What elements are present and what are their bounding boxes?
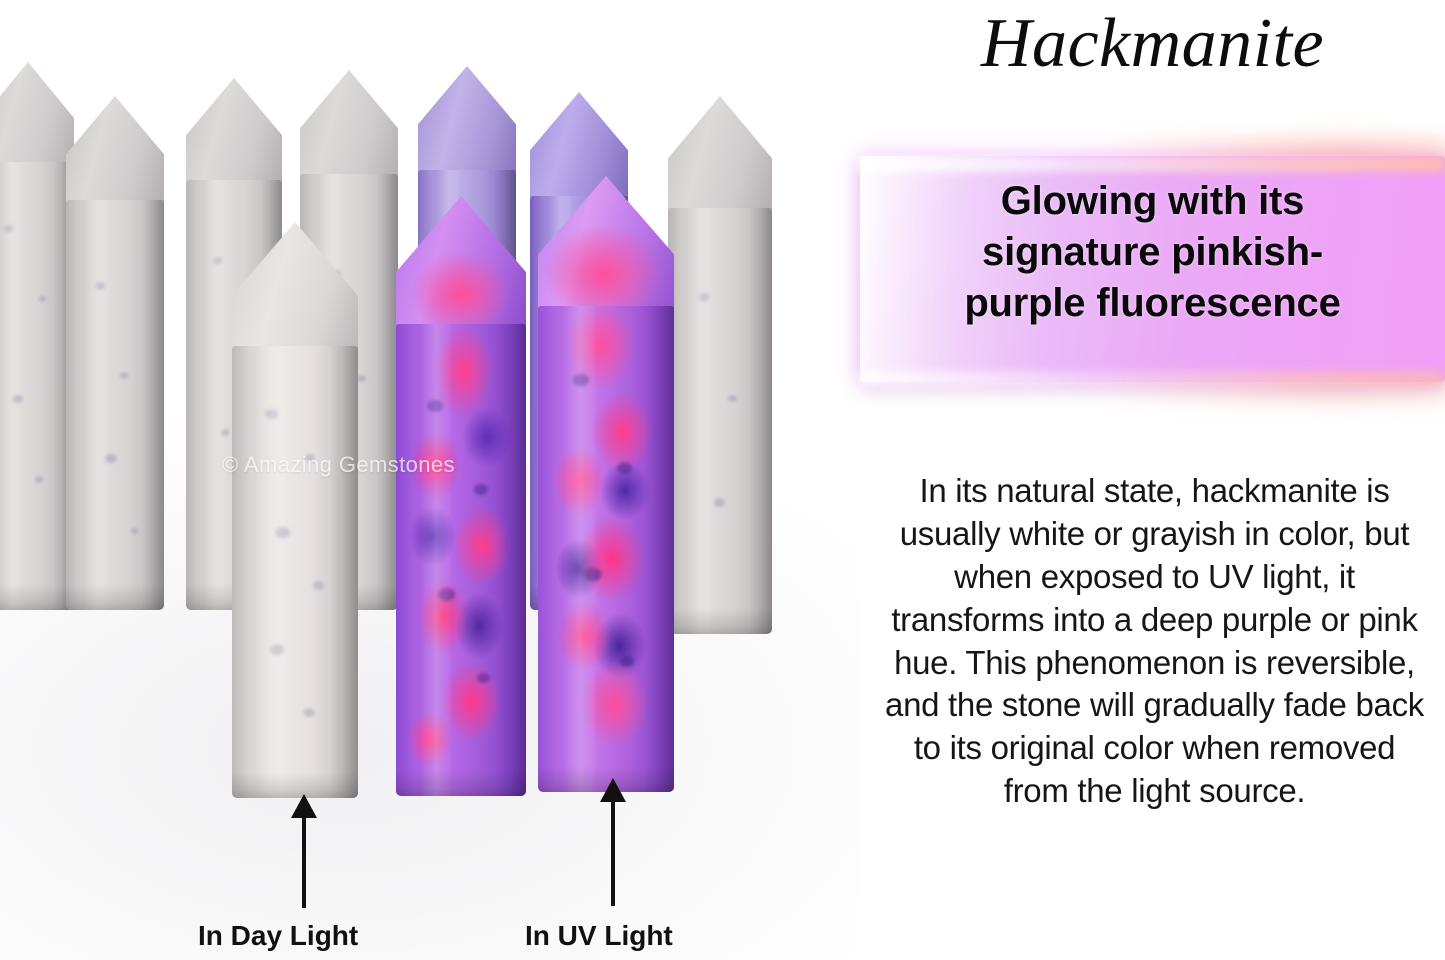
watermark: © Amazing Gemstones [222,452,455,478]
crystal-tip [668,96,772,216]
crystal-body [668,208,772,634]
crystal-tower-front-uv-2 [538,176,674,792]
highlight-banner: Glowing with its signature pinkish- purp… [860,150,1445,390]
description-paragraph: In its natural state, hackmanite is usua… [882,470,1427,813]
crystal-tip [66,96,164,208]
crystal-tower-front-uv-1 [396,196,526,796]
crystal-tip [418,66,516,178]
info-panel: Hackmanite Glowing with its signature pi… [860,0,1445,960]
crystal-body [538,306,674,792]
crystal-body [66,200,164,610]
screenshot-stage: © Amazing Gemstones In Day Light In UV L… [0,0,1445,960]
arrow-head-icon [291,794,317,818]
page-title: Hackmanite [860,4,1445,84]
crystal-tip [396,196,526,332]
product-photo: © Amazing Gemstones In Day Light In UV L… [0,0,860,960]
crystal-tip [538,176,674,316]
banner-heading-line-3: purple fluorescence [860,278,1445,329]
crystal-body [396,324,526,796]
crystal-tip [232,222,358,354]
banner-heading: Glowing with its signature pinkish- purp… [860,176,1445,330]
crystal-tip [300,70,398,182]
banner-bottom-sheen [860,372,1445,386]
arrow-shaft [611,800,615,906]
arrow-day-light [277,794,331,906]
crystal-tower-back-1 [0,62,74,610]
crystal-body [0,162,74,610]
arrow-head-icon [600,778,626,802]
caption-day-light: In Day Light [198,920,358,952]
arrow-shaft [302,816,306,908]
banner-heading-line-1: Glowing with its [860,176,1445,227]
crystal-tower-front-day-light [232,222,358,798]
banner-top-sheen [860,156,1445,172]
banner-heading-line-2: signature pinkish- [860,227,1445,278]
crystal-tower-back-2 [66,96,164,610]
caption-uv-light: In UV Light [525,920,673,952]
crystal-tip [186,78,282,188]
crystal-tip [0,62,74,170]
crystal-tower-back-7 [668,96,772,634]
crystal-body [232,346,358,798]
arrow-uv-light [586,778,640,906]
